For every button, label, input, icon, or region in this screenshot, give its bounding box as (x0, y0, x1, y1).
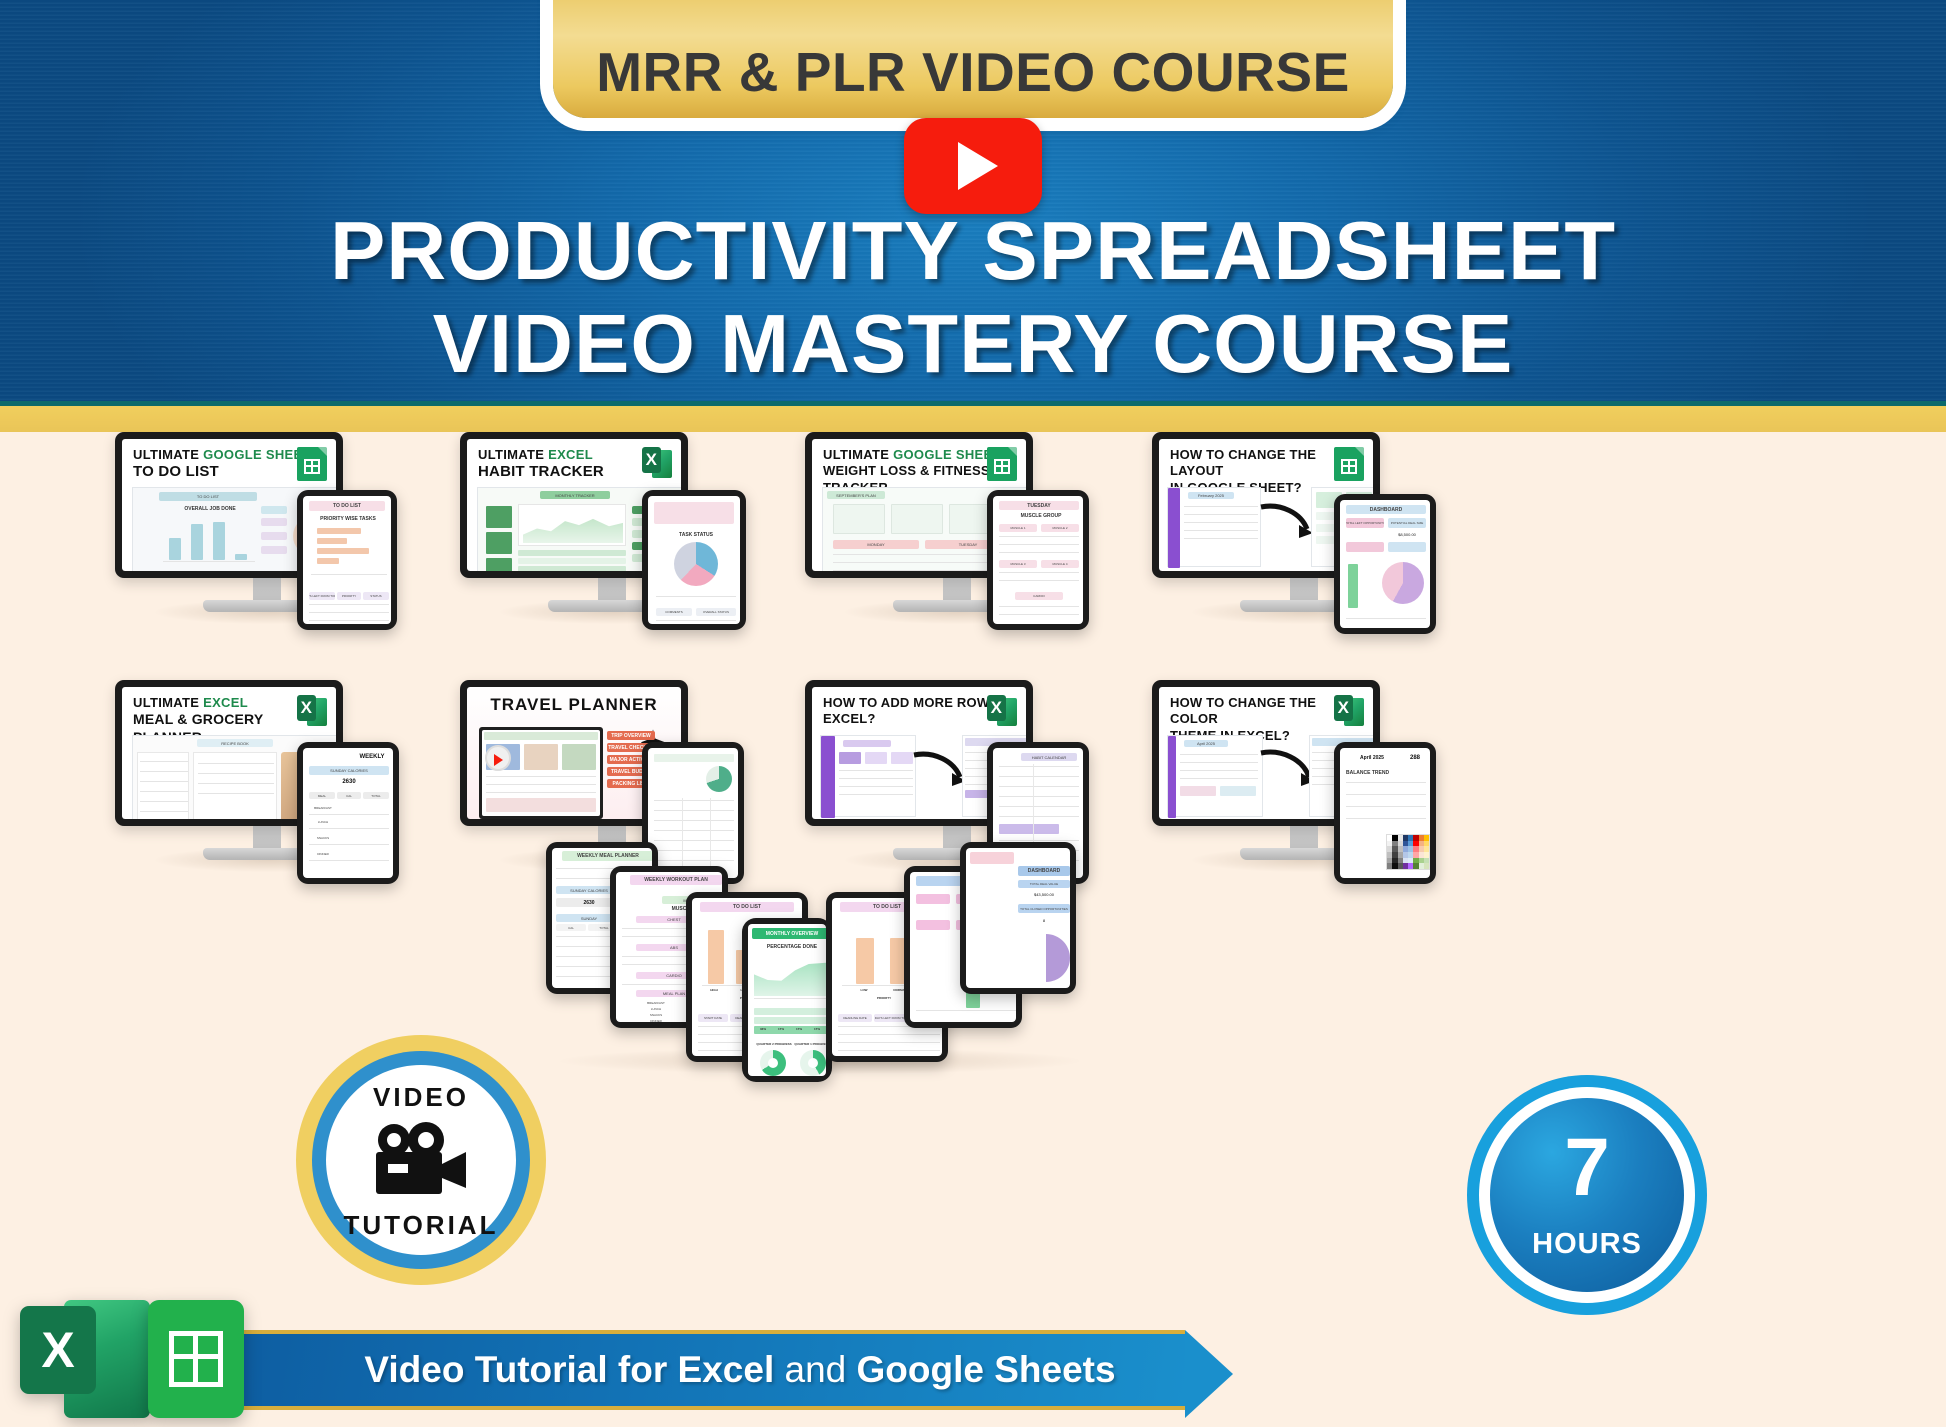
chart-caption: OVERALL JOB DONE (167, 506, 253, 512)
tablet-mockup: TUESDAY MUSCLE GROUP MUSCLE 1 MUSCLE 2 M… (987, 490, 1089, 630)
page-title: PRODUCTIVITY SPREADSHEET VIDEO MASTERY C… (0, 205, 1946, 391)
tablet-mockup: DASHBOARD TOTAL LEFT OPPORTUNITY POTENTI… (1334, 494, 1436, 634)
tablet-mockup: WEEKLY SUNDAY CALORIES 2630 MEAL CAL TOT… (297, 742, 399, 884)
meal-row: LUNCH (636, 1006, 676, 1011)
card-title: TRAVEL PLANNER (467, 687, 681, 715)
kpi-chip (1388, 542, 1426, 552)
kpi-chip (261, 506, 287, 514)
tablet-display: WEEKLY SUNDAY CALORIES 2630 MEAL CAL TOT… (303, 748, 393, 878)
table-header: CAL (556, 924, 586, 931)
chart-bar (235, 554, 247, 560)
kpi-label: TOTAL DEAL VALUE (1018, 880, 1070, 888)
kpi-value: $8,500.00 (1388, 530, 1426, 538)
phone-display: MONTHLY OVERVIEW PERCENTAGE DONE 33% 17%… (748, 924, 826, 1076)
axis-tick: HIGH (702, 988, 726, 992)
badge-bottom-text: TUTORIAL (296, 1210, 546, 1241)
table-header: CARDIO (1015, 592, 1063, 600)
table-header: MUSCLE 1 (999, 524, 1037, 532)
excel-icon: X (1334, 695, 1364, 729)
kpi-chip (916, 894, 950, 904)
mrr-plr-label: MRR & PLR VIDEO COURSE (596, 40, 1350, 104)
page-title-line1: PRODUCTIVITY SPREADSHEET (0, 205, 1946, 298)
product-card-weight-loss-fitness-tracker[interactable]: ULTIMATE GOOGLE SHEETS WEIGHT LOSS & FIT… (805, 432, 1105, 642)
hbar (317, 558, 339, 564)
table-header: COMMENTS (656, 608, 692, 616)
tablet-title-chip: HABIT CALENDAR (1021, 753, 1077, 761)
sheet-label: April 2025 (1184, 740, 1228, 747)
before-preview: April 2025 (1167, 735, 1263, 817)
table-header: CAL (337, 792, 361, 799)
tablet-value: 288 (1402, 753, 1428, 762)
chart-bar (213, 522, 225, 560)
axis-label: PRIORITY (860, 996, 908, 1000)
tablet-mockup: April 2025 288 BALANCE TREND (1334, 742, 1436, 884)
table-header: MUSCLE 4 (1041, 560, 1079, 568)
chart-axis (163, 561, 255, 562)
excel-icon: X (297, 695, 327, 729)
hours-badge: 7 HOURS (1467, 1075, 1707, 1315)
page-title-line2: VIDEO MASTERY COURSE (0, 298, 1946, 391)
tablet-display: DASHBOARD TOTAL LEFT OPPORTUNITY POTENTI… (1340, 500, 1430, 628)
youtube-play-icon (904, 118, 1042, 214)
screen-title: WEEKLY WORKOUT PLAN (630, 875, 722, 885)
header-banner: MRR & PLR VIDEO COURSE PRODUCTIVITY SPRE… (0, 0, 1946, 432)
excel-icon: X (987, 695, 1017, 729)
footer-text: Video Tutorial for Excel and Google Shee… (234, 1349, 1115, 1391)
tablet-display: TUESDAY MUSCLE GROUP MUSCLE 1 MUSCLE 2 M… (993, 496, 1083, 624)
sheet-title-chip: TO DO LIST (159, 492, 257, 501)
chart-caption: PERCENTAGE DONE (764, 944, 820, 950)
donut-hole (808, 1058, 818, 1068)
footer-text-part1: Video Tutorial for Excel (364, 1349, 784, 1390)
excel-icon: X (20, 1300, 150, 1418)
tablet-subtitle: MUSCLE GROUP (1011, 513, 1071, 519)
meal-row: BREAKFAST (309, 804, 337, 811)
play-triangle-icon (494, 754, 503, 766)
play-triangle-icon (958, 142, 998, 190)
kpi-chip (916, 920, 950, 930)
chart-bar (856, 938, 874, 984)
tablet-subtitle: PRIORITY WISE TASKS (313, 516, 383, 522)
sheets-grid-glyph (169, 1331, 223, 1388)
tablet-mockup: TO DO LIST PRIORITY WISE TASKS DAYS LEFT… (297, 490, 397, 630)
table-header: TOTAL (363, 792, 389, 799)
meal-row: BREAKFAST (636, 1000, 676, 1005)
table-header: MEAL (309, 792, 335, 799)
kpi-chip (261, 532, 287, 540)
tablet-title: April 2025 (1346, 753, 1398, 762)
kpi-value: 8 (1018, 916, 1070, 924)
menu-item[interactable]: TRIP OVERVIEW (607, 731, 655, 740)
chart-bar (708, 930, 724, 984)
screen-title: TO DO LIST (700, 902, 794, 912)
google-sheets-icon (148, 1300, 244, 1418)
product-card-meal-grocery-planner[interactable]: ULTIMATE EXCEL MEAL & GROCERY PLANNER X … (115, 680, 415, 890)
video-tutorial-badge: VIDEO TUTORIAL (296, 1035, 546, 1285)
percent-cell: 17% (808, 1027, 826, 1031)
before-preview (820, 735, 916, 817)
table-header: MUSCLE 3 (999, 560, 1037, 568)
device-cluster: WEEKLY MEAL PLANNER SUNDAY CALORIES 2630… (540, 832, 1100, 1082)
header-gold-divider (0, 406, 1946, 432)
tablet-title: WEEKLY (353, 752, 391, 761)
quarter-label: QUARTER 2 PROGRESS (756, 1042, 792, 1046)
kpi-chip (1346, 542, 1384, 552)
tablet-title-chip: DASHBOARD (1346, 505, 1426, 514)
tablet-title-chip: TUESDAY (999, 501, 1079, 510)
google-sheets-icon (987, 447, 1017, 481)
product-card-habit-tracker[interactable]: ULTIMATE EXCEL HABIT TRACKER X MONTHLY T… (460, 432, 760, 642)
google-sheets-icon (297, 447, 327, 481)
percent-cell: 33% (754, 1027, 772, 1031)
kpi-block (486, 532, 512, 554)
screen-title: DASHBOARD (1018, 866, 1070, 876)
kpi-block (486, 506, 512, 528)
badge-top-text: VIDEO (296, 1082, 546, 1113)
meal-row: LUNCH (309, 818, 337, 825)
pie-chart (1382, 562, 1424, 604)
kpi-label: TOTAL CLOSED OPPORTUNITIES (1018, 904, 1070, 913)
donut-hole (768, 1058, 778, 1068)
hbar (317, 528, 361, 534)
day-header: MONDAY (833, 540, 919, 549)
habit-grid (518, 550, 626, 571)
before-preview: February 2025 (1167, 487, 1261, 567)
table-header: START DATE (698, 1014, 728, 1022)
cluster-tablet-dashboard: DASHBOARD TOTAL DEAL VALUE $43,500.00 TO… (960, 842, 1076, 994)
inner-monitor (479, 727, 603, 819)
divider (311, 574, 387, 575)
table-header: OVERALL STATUS (696, 608, 736, 616)
tablet-banner (654, 502, 734, 524)
product-card-change-layout-google-sheet[interactable]: HOW TO CHANGE THE LAYOUT IN GOOGLE SHEET… (1152, 432, 1452, 642)
hours-label: HOURS (1467, 1228, 1707, 1261)
movie-camera-icon (368, 1122, 474, 1198)
kpi-chip: POTENTIAL DEAL SIZE (1388, 518, 1426, 528)
table-header: DAYS LEFT FROM TODAY (309, 592, 335, 600)
tablet-subtitle: TASK STATUS (666, 532, 726, 538)
cluster-phone-monthly-overview: MONTHLY OVERVIEW PERCENTAGE DONE 33% 17%… (742, 918, 832, 1082)
area-chart (754, 956, 826, 996)
meal-row: SNACKS (309, 834, 337, 841)
product-card-change-color-theme-excel[interactable]: HOW TO CHANGE THE COLOR THEME IN EXCEL? … (1152, 680, 1452, 890)
screen-banner (970, 852, 1014, 864)
tablet-display: TASK STATUS COMMENTS OVERALL STATUS (648, 496, 740, 624)
sheet-title-chip: SEPTEMBER'S PLAN (827, 491, 885, 499)
sheet-title-chip: MONTHLY TRACKER (540, 491, 610, 499)
pie-chart (674, 542, 718, 586)
hours-number: 7 (1467, 1127, 1707, 1209)
percent-cell: 17% (790, 1027, 808, 1031)
tablet-mockup: TASK STATUS COMMENTS OVERALL STATUS (642, 490, 746, 630)
percent-cell: 17% (772, 1027, 790, 1031)
tablet-display: April 2025 288 BALANCE TREND (1340, 748, 1430, 878)
table-header: DEADLINE DATE (838, 1014, 872, 1022)
chart-bar (191, 524, 203, 560)
curved-arrow-icon (1259, 501, 1319, 541)
sheet-title-chip: RECIPE BOOK (197, 739, 273, 747)
footer-ribbon: Video Tutorial for Excel and Google Shee… (165, 1330, 1185, 1410)
kpi-block (486, 558, 512, 571)
footer-text-and: and (785, 1349, 847, 1390)
kpi-chip (261, 518, 287, 526)
product-card-to-do-list[interactable]: ULTIMATE GOOGLE SHEETS TO DO LIST TO DO … (115, 432, 415, 642)
kpi-chip (261, 546, 287, 554)
excel-icon: X (642, 447, 672, 481)
bar-chart (1348, 564, 1358, 608)
tablet-subtitle: BALANCE TREND (1346, 770, 1402, 776)
mrr-plr-plaque: MRR & PLR VIDEO COURSE (553, 0, 1393, 118)
google-sheets-icon (1334, 447, 1364, 481)
product-gallery: ULTIMATE GOOGLE SHEETS TO DO LIST TO DO … (0, 432, 1946, 1427)
meal-row: DINNER (636, 1018, 676, 1022)
table-header: MUSCLE 2 (1041, 524, 1079, 532)
calories-value: 2630 (309, 777, 389, 786)
meal-row: SNACKS (636, 1012, 676, 1017)
line-chart (518, 504, 626, 546)
sheet-label: February 2025 (1188, 492, 1234, 499)
tablet-display: DASHBOARD TOTAL DEAL VALUE $43,500.00 TO… (966, 848, 1070, 988)
meal-row: DINNER (309, 850, 337, 857)
pie-chart (1022, 934, 1070, 982)
screen-title: MONTHLY OVERVIEW (752, 928, 826, 939)
kpi-value: $43,500.00 (1018, 890, 1070, 898)
hbar (317, 548, 369, 554)
tablet-title-chip: TO DO LIST (309, 501, 385, 511)
axis-tick: LOW (852, 988, 876, 992)
hbar (317, 538, 347, 544)
donut-chart (706, 766, 732, 792)
tablet-display: TO DO LIST PRIORITY WISE TASKS DAYS LEFT… (303, 496, 391, 624)
footer-text-part2: Google Sheets (846, 1349, 1115, 1390)
table-header: PRIORITY (337, 592, 361, 600)
chart-bar (169, 538, 181, 560)
kpi-chip: TOTAL LEFT OPPORTUNITY (1346, 518, 1384, 528)
quarter-label: QUARTER 1 PROGRESS (794, 1042, 826, 1046)
calories-header: SUNDAY CALORIES (309, 766, 389, 775)
excel-x-glyph: X (20, 1306, 96, 1394)
color-palette[interactable] (1386, 834, 1430, 870)
table-header: STATUS (363, 592, 389, 600)
screen-title: WEEKLY MEAL PLANNER (562, 851, 652, 861)
